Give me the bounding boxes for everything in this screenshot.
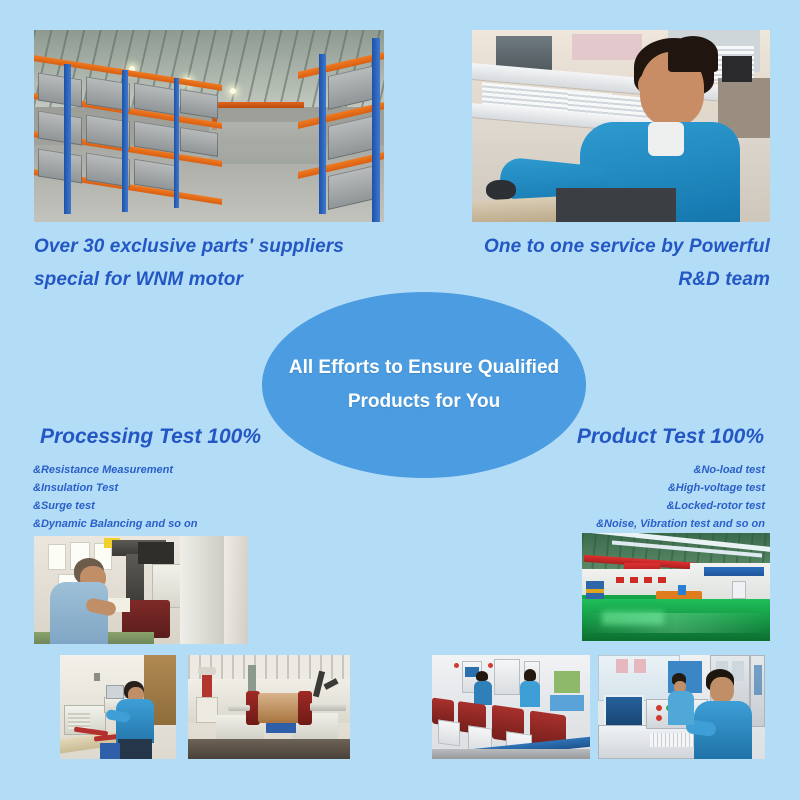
- photo-control-console: [598, 655, 765, 759]
- product-test-list: &No-load test &High-voltage test &Locked…: [596, 461, 765, 533]
- list-item: &Resistance Measurement: [33, 461, 197, 479]
- photo-engineer-at-computer: [472, 30, 770, 222]
- center-highlight-ellipse: All Efforts to Ensure Qualified Products…: [262, 292, 586, 478]
- list-item: &High-voltage test: [596, 479, 765, 497]
- list-item: &No-load test: [596, 461, 765, 479]
- caption-suppliers-line1: Over 30 exclusive parts' suppliers: [34, 230, 394, 263]
- caption-service: One to one service by Powerful R&D team: [410, 230, 770, 296]
- list-item: &Surge test: [33, 497, 197, 515]
- heading-processing-test: Processing Test 100%: [40, 425, 261, 449]
- photo-dynamic-balancing-machine: [188, 655, 350, 759]
- photo-green-floor-workshop: [582, 533, 770, 641]
- center-highlight-text: All Efforts to Ensure Qualified Products…: [289, 351, 559, 419]
- photo-cmm-inspection: [34, 536, 248, 644]
- caption-suppliers: Over 30 exclusive parts' suppliers speci…: [34, 230, 394, 296]
- infographic-canvas: Over 30 exclusive parts' suppliers speci…: [0, 0, 800, 800]
- processing-test-list: &Resistance Measurement &Insulation Test…: [33, 461, 197, 533]
- caption-service-line1: One to one service by Powerful: [410, 230, 770, 263]
- list-item: &Insulation Test: [33, 479, 197, 497]
- list-item: &Locked-rotor test: [596, 497, 765, 515]
- photo-electrical-test-bench: [60, 655, 176, 759]
- list-item: &Dynamic Balancing and so on: [33, 515, 197, 533]
- photo-parts-warehouse: [34, 30, 384, 222]
- caption-suppliers-line2: special for WNM motor: [34, 263, 394, 296]
- photo-motor-test-lab: [432, 655, 590, 759]
- list-item: &Noise, Vibration test and so on: [596, 515, 765, 533]
- heading-product-test: Product Test 100%: [577, 425, 764, 449]
- caption-service-line2: R&D team: [410, 263, 770, 296]
